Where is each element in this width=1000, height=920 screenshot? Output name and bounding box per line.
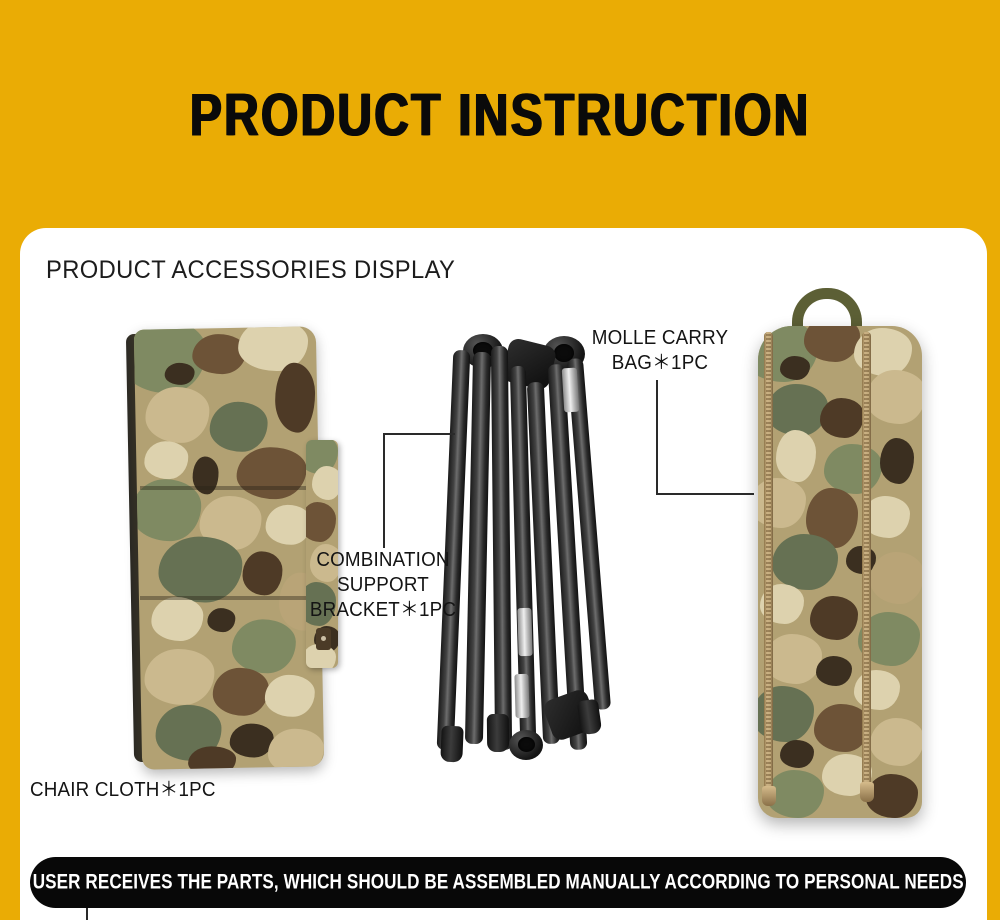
molle-bag-body — [758, 326, 922, 818]
chair-cloth-snap-button — [316, 628, 331, 650]
callout-molle-bag: MOLLE CARRY BAG＊1PC — [575, 326, 744, 376]
header-banner: PRODUCT INSTRUCTION — [0, 0, 1000, 228]
pole-cap-1 — [440, 726, 463, 763]
pole-hub-bottom-hole — [518, 737, 535, 752]
accessories-card: PRODUCT ACCESSORIES DISPLAY — [20, 228, 987, 920]
pole-3 — [491, 346, 512, 750]
leader-line-bracket-horizontal — [383, 433, 455, 435]
molle-bag-zipper-pull-right[interactable] — [860, 782, 874, 802]
callout-chair-cloth: CHAIR CLOTH＊1PC — [30, 778, 246, 803]
pole-cap-3 — [577, 699, 603, 736]
molle-bag-zipper-pull-left[interactable] — [762, 786, 776, 806]
callout-support-bracket: COMBINATION SUPPORT BRACKET＊1PC — [284, 548, 481, 623]
pole-cap-2 — [487, 714, 509, 752]
ferrule-lower — [514, 674, 529, 718]
footer-note-bar: USER RECEIVES THE PARTS, WHICH SHOULD BE… — [30, 857, 966, 908]
leader-line-bracket-vertical — [383, 433, 385, 548]
molle-bag-zipper-left — [764, 332, 773, 802]
page-title: PRODUCT INSTRUCTION — [190, 79, 811, 149]
product-molle-bag — [750, 288, 930, 818]
molle-bag-zipper-right — [862, 332, 871, 802]
chair-cloth-fold-seam-top — [140, 486, 318, 490]
ferrule-middle — [517, 608, 532, 656]
product-display-stage: CHAIR CLOTH＊1PC — [20, 228, 987, 920]
footer-note-text: USER RECEIVES THE PARTS, WHICH SHOULD BE… — [33, 870, 964, 895]
leader-line-molle-horizontal — [656, 493, 754, 495]
leader-line-molle-vertical — [656, 380, 658, 495]
